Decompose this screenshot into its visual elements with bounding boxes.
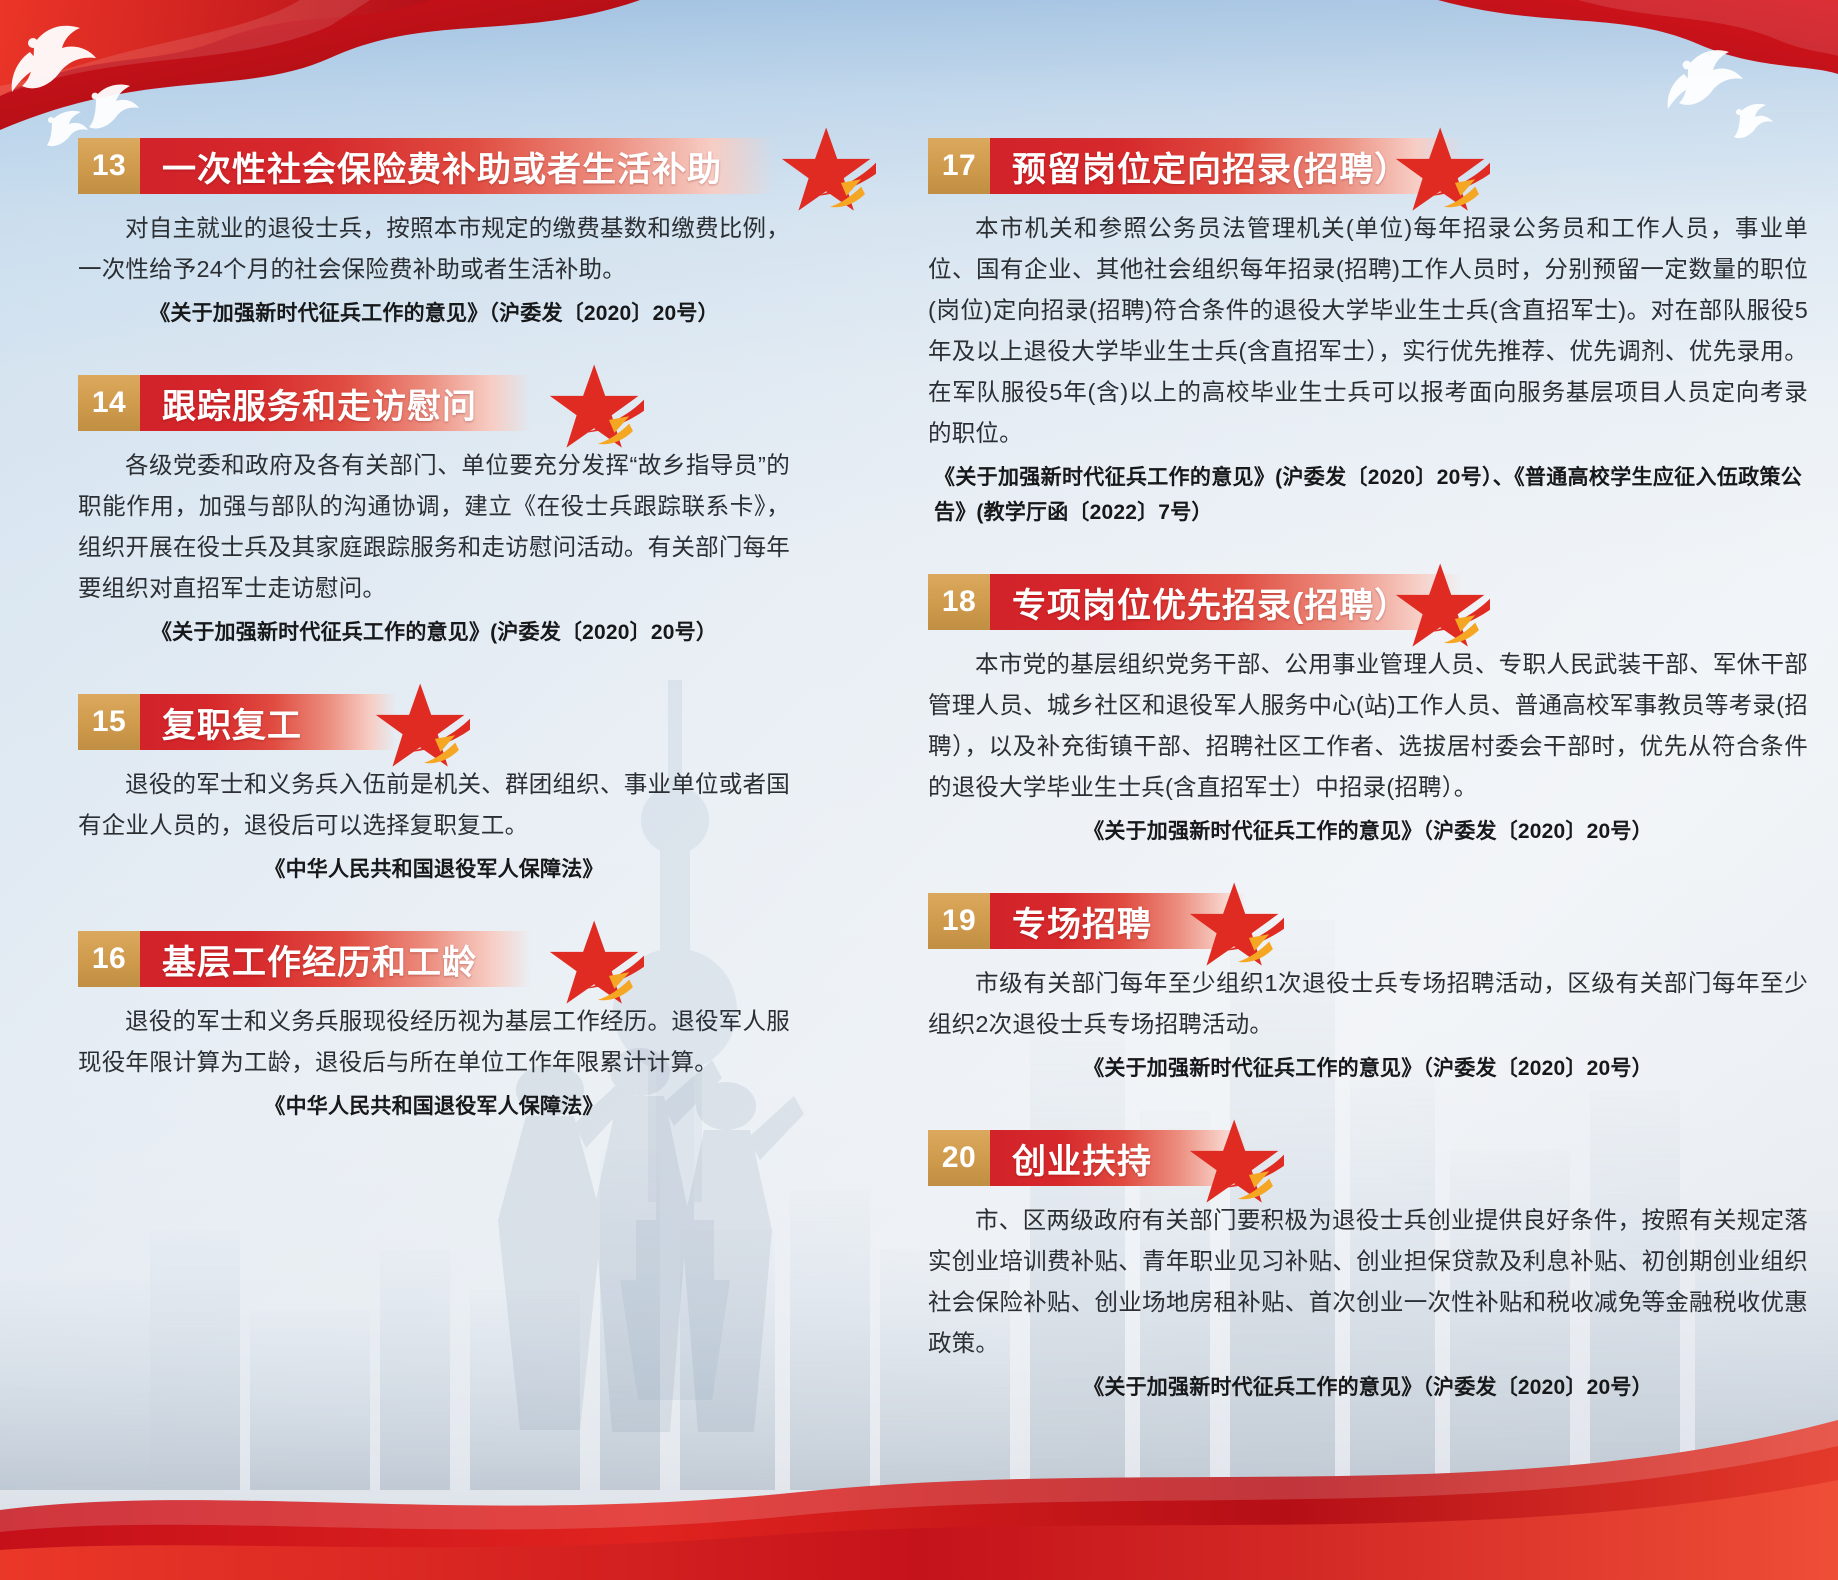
- section-citation: 《关于加强新时代征兵工作的意见》（沪委发〔2020〕20号）: [928, 814, 1808, 849]
- section-title-bar: 预留岗位定向招录(招聘）: [990, 138, 1463, 194]
- section-header: 13 一次性社会保险费补助或者生活补助: [78, 138, 790, 194]
- section-body: 各级党委和政府及各有关部门、单位要充分发挥“故乡指导员”的职能作用，加强与部队的…: [78, 445, 790, 609]
- section-number-badge: 16: [78, 931, 140, 987]
- section-header: 14 跟踪服务和走访慰问: [78, 375, 790, 431]
- section-title: 专项岗位优先招录(招聘）: [1012, 578, 1409, 627]
- section-title: 基层工作经历和工龄: [162, 935, 477, 984]
- section-title-bar: 跟踪服务和走访慰问: [140, 375, 531, 431]
- section-number-badge: 19: [928, 893, 990, 949]
- policy-section-16: 16 基层工作经历和工龄 退役的军士和义务兵服现役经历视为基层工作经历。退役军人…: [78, 931, 790, 1124]
- section-title-bar: 基层工作经历和工龄: [140, 931, 531, 987]
- section-header: 17 预留岗位定向招录(招聘）: [928, 138, 1808, 194]
- star-emblem-icon: [772, 122, 884, 218]
- section-header: 16 基层工作经历和工龄: [78, 931, 790, 987]
- section-citation: 《关于加强新时代征兵工作的意见》（沪委发〔2020〕20号）: [928, 1370, 1808, 1405]
- left-column: 13 一次性社会保险费补助或者生活补助 对自主就业的退役士兵，按照本市规定的缴费…: [0, 0, 900, 1580]
- section-body: 市级有关部门每年至少组织1次退役士兵专场招聘活动，区级有关部门每年至少组织2次退…: [928, 963, 1808, 1045]
- section-title: 一次性社会保险费补助或者生活补助: [162, 142, 722, 191]
- section-body: 对自主就业的退役士兵，按照本市规定的缴费基数和缴费比例，一次性给予24个月的社会…: [78, 208, 790, 290]
- section-header: 15 复职复工: [78, 694, 790, 750]
- section-citation: 《关于加强新时代征兵工作的意见》(沪委发〔2020〕20号）、《普通高校学生应征…: [928, 460, 1808, 530]
- section-body: 本市党的基层组织党务干部、公用事业管理人员、专职人民武装干部、军休干部管理人员、…: [928, 644, 1808, 808]
- section-header: 19 专场招聘: [928, 893, 1808, 949]
- section-title: 预留岗位定向招录(招聘）: [1012, 142, 1409, 191]
- section-title-bar: 专项岗位优先招录(招聘）: [990, 574, 1463, 630]
- section-body: 退役的军士和义务兵服现役经历视为基层工作经历。退役军人服现役年限计算为工龄，退役…: [78, 1001, 790, 1083]
- section-citation: 《中华人民共和国退役军人保障法》: [78, 852, 790, 887]
- section-title: 复职复工: [162, 698, 302, 747]
- section-body: 市、区两级政府有关部门要积极为退役士兵创业提供良好条件，按照有关规定落实创业培训…: [928, 1200, 1808, 1364]
- policy-section-19: 19 专场招聘 市级有关部门每年至少组织1次退役士兵专场招聘活动，区级有关部门每…: [928, 893, 1808, 1086]
- policy-section-14: 14 跟踪服务和走访慰问 各级党委和政府及各有关部门、单位要充分发挥“故乡指导员…: [78, 375, 790, 650]
- section-number-badge: 14: [78, 375, 140, 431]
- section-header: 20 创业扶持: [928, 1130, 1808, 1186]
- section-title-bar: 创业扶持: [990, 1130, 1246, 1186]
- section-citation: 《关于加强新时代征兵工作的意见》（沪委发〔2020〕20号）: [78, 296, 790, 331]
- section-title: 创业扶持: [1012, 1134, 1152, 1183]
- section-body: 退役的军士和义务兵入伍前是机关、群团组织、事业单位或者国有企业人员的，退役后可以…: [78, 764, 790, 846]
- right-column: 17 预留岗位定向招录(招聘） 本市机关和参照公务员法管理机关(单位)每年招录公…: [900, 0, 1838, 1580]
- section-title-bar: 专场招聘: [990, 893, 1246, 949]
- section-body: 本市机关和参照公务员法管理机关(单位)每年招录公务员和工作人员，事业单位、国有企…: [928, 208, 1808, 454]
- section-citation: 《关于加强新时代征兵工作的意见》(沪委发〔2020〕20号）: [78, 615, 790, 650]
- section-title-bar: 一次性社会保险费补助或者生活补助: [140, 138, 776, 194]
- section-number-badge: 17: [928, 138, 990, 194]
- section-number-badge: 15: [78, 694, 140, 750]
- policy-section-20: 20 创业扶持 市、区两级政府有关部门要积极为退役士兵创业提供良好条件，按照有关…: [928, 1130, 1808, 1405]
- section-citation: 《关于加强新时代征兵工作的意见》（沪委发〔2020〕20号）: [928, 1051, 1808, 1086]
- policy-section-18: 18 专项岗位优先招录(招聘） 本市党的基层组织党务干部、公用事业管理人员、专职…: [928, 574, 1808, 849]
- section-title: 专场招聘: [1012, 897, 1152, 946]
- section-number-badge: 20: [928, 1130, 990, 1186]
- policy-section-17: 17 预留岗位定向招录(招聘） 本市机关和参照公务员法管理机关(单位)每年招录公…: [928, 138, 1808, 530]
- poster-canvas: 13 一次性社会保险费补助或者生活补助 对自主就业的退役士兵，按照本市规定的缴费…: [0, 0, 1838, 1580]
- section-number-badge: 18: [928, 574, 990, 630]
- section-title: 跟踪服务和走访慰问: [162, 379, 477, 428]
- policy-section-15: 15 复职复工 退役的军士和义务兵入伍前是机关、群团组织、事业单位或者国有企业人…: [78, 694, 790, 887]
- section-header: 18 专项岗位优先招录(招聘）: [928, 574, 1808, 630]
- section-number-badge: 13: [78, 138, 140, 194]
- policy-section-13: 13 一次性社会保险费补助或者生活补助 对自主就业的退役士兵，按照本市规定的缴费…: [78, 138, 790, 331]
- section-title-bar: 复职复工: [140, 694, 396, 750]
- section-citation: 《中华人民共和国退役军人保障法》: [78, 1089, 790, 1124]
